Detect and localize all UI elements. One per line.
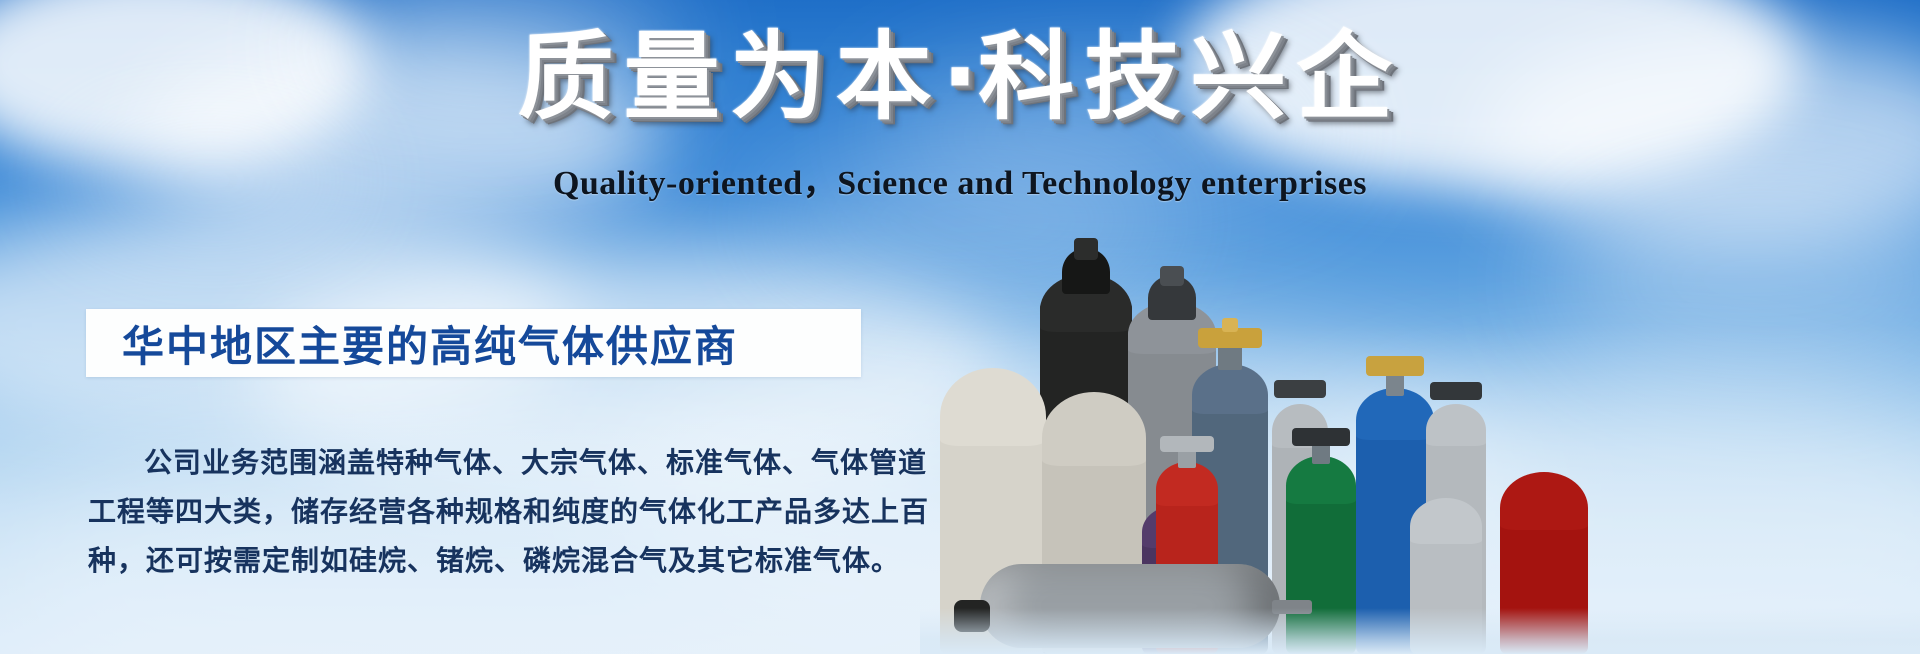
tagline-callout-box: 华中地区主要的高纯气体供应商 (86, 309, 861, 377)
photo-ground-fade (920, 608, 1920, 654)
tagline-text: 华中地区主要的高纯气体供应商 (86, 313, 738, 374)
page-title: 质量为本·科技兴企 (0, 26, 1920, 130)
headline-separator: · (942, 21, 978, 133)
headline-right: 科技兴企 (978, 21, 1402, 133)
page-subtitle: Quality-oriented，Science and Technology … (0, 155, 1920, 204)
description-line-3: 种，还可按需定制如硅烷、锗烷、磷烷混合气及其它标准气体。 (88, 536, 878, 585)
description-line-1: 公司业务范围涵盖特种气体、大宗气体、标准气体、气体管道 (88, 438, 878, 487)
description-line-2: 工程等四大类，储存经营各种规格和纯度的气体化工产品多达上百 (88, 487, 878, 536)
promo-banner: 质量为本·科技兴企 Quality-oriented，Science and T… (0, 0, 1920, 654)
headline-left: 质量为本 (518, 21, 942, 133)
description-paragraph: 公司业务范围涵盖特种气体、大宗气体、标准气体、气体管道 工程等四大类，储存经营各… (88, 438, 878, 585)
